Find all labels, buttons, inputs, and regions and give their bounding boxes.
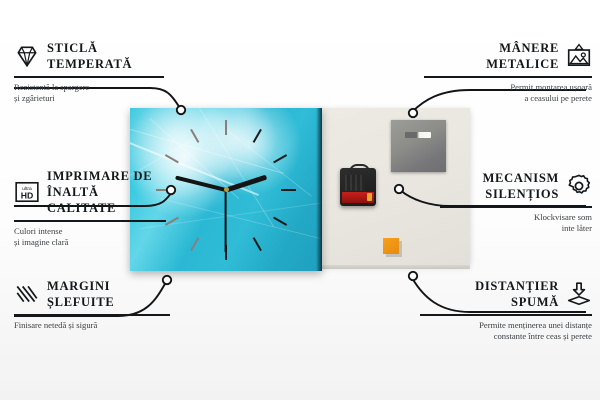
clock-marker: [253, 128, 262, 142]
hanger-slot: [405, 132, 431, 138]
callout-title-line2: METALICE: [486, 56, 559, 72]
callout-title-line1: DISTANȚIER: [475, 278, 559, 294]
foam-spacer: [383, 238, 399, 254]
callout-sticla-temperata: STICLĂ TEMPERATĂ Rezistentă la spargere …: [14, 40, 164, 105]
second-hand: [225, 190, 227, 252]
callout-sub-line1: Rezistentă la spargere: [14, 82, 164, 93]
callout-sub-line1: Finisare netedă și sigură: [14, 320, 170, 331]
callout-header: ultra HD IMPRIMARE DE ÎNALTĂ CALITATE: [14, 168, 166, 216]
callout-header: MARGINI ȘLEFUITE: [14, 278, 170, 310]
picture-frame-hanger-icon: [566, 43, 592, 69]
callout-title-line1: MARGINI: [47, 278, 114, 294]
clock-hub: [224, 187, 229, 192]
product-assembly: [130, 108, 470, 273]
callout-rule: [14, 220, 166, 222]
metal-hanger-plate: [391, 120, 446, 172]
ultra-hd-icon: ultra HD: [14, 179, 40, 205]
callout-sub-line2: inte låter: [440, 223, 592, 234]
callout-sub-line1: Klockvisare som: [440, 212, 592, 223]
callout-header: DISTANȚIER SPUMĂ: [420, 278, 592, 310]
callout-title-line2: SPUMĂ: [475, 294, 559, 310]
callout-mecanism-silentios: MECANISM SILENȚIOS Klockvisare som inte …: [440, 170, 592, 235]
callout-title-line1: MECANISM: [483, 170, 559, 186]
clock-marker: [165, 216, 179, 225]
callout-sub-line2: constante între ceas și perete: [420, 331, 592, 342]
callout-sub-line2: și imagine clară: [14, 237, 166, 248]
callout-imprimare-calitate: ultra HD IMPRIMARE DE ÎNALTĂ CALITATE Cu…: [14, 168, 166, 249]
callout-title-line2: ȘLEFUITE: [47, 294, 114, 310]
polished-edges-icon: [14, 281, 40, 307]
leader-dot-distantier: [409, 272, 417, 280]
callout-sub-line2: și zgârieturi: [14, 93, 164, 104]
diamond-icon: [14, 43, 40, 69]
callout-title-line2: SILENȚIOS: [483, 186, 559, 202]
callout-title-line1: IMPRIMARE DE: [47, 168, 166, 184]
callout-title-line2: TEMPERATĂ: [47, 56, 132, 72]
clock-marker: [190, 128, 199, 142]
callout-rule: [14, 314, 170, 316]
movement-loop: [349, 164, 370, 174]
callout-rule: [420, 314, 592, 316]
clock-marker: [190, 237, 199, 251]
callout-distantier-spuma: DISTANȚIER SPUMĂ Permite menținerea unei…: [420, 278, 592, 343]
callout-header: MÂNERE METALICE: [424, 40, 592, 72]
gear-icon: [566, 173, 592, 199]
callout-title-line1: STICLĂ: [47, 40, 132, 56]
infographic-canvas: STICLĂ TEMPERATĂ Rezistentă la spargere …: [0, 0, 600, 400]
clock-marker: [273, 154, 287, 163]
svg-text:HD: HD: [21, 190, 34, 200]
callout-sub-line1: Culori intense: [14, 226, 166, 237]
clock-marker: [225, 120, 227, 135]
battery: [342, 192, 374, 203]
callout-sub-line2: a ceasului pe perete: [424, 93, 592, 104]
callout-rule: [440, 206, 592, 208]
minute-hand: [175, 175, 226, 191]
callout-margini-slefuite: MARGINI ȘLEFUITE Finisare netedă și sigu…: [14, 278, 170, 331]
callout-header: STICLĂ TEMPERATĂ: [14, 40, 164, 72]
press-down-pad-icon: [566, 281, 592, 307]
callout-title-line1: MÂNERE: [486, 40, 559, 56]
callout-rule: [14, 76, 164, 78]
callout-sub-line1: Permite menținerea unei distanțe: [420, 320, 592, 331]
callout-rule: [424, 76, 592, 78]
clock-movement: [340, 168, 376, 206]
callout-title-line2: ÎNALTĂ CALITATE: [47, 184, 166, 216]
callout-manere-metalice: MÂNERE METALICE Permit montarea ușoară a…: [424, 40, 592, 105]
clock-marker: [253, 237, 262, 251]
clock-marker: [273, 216, 287, 225]
callout-header: MECANISM SILENȚIOS: [440, 170, 592, 202]
callout-sub-line1: Permit montarea ușoară: [424, 82, 592, 93]
clock-marker: [281, 189, 296, 191]
clock-marker: [165, 154, 179, 163]
movement-dial: [345, 175, 365, 191]
hour-hand: [225, 174, 266, 192]
